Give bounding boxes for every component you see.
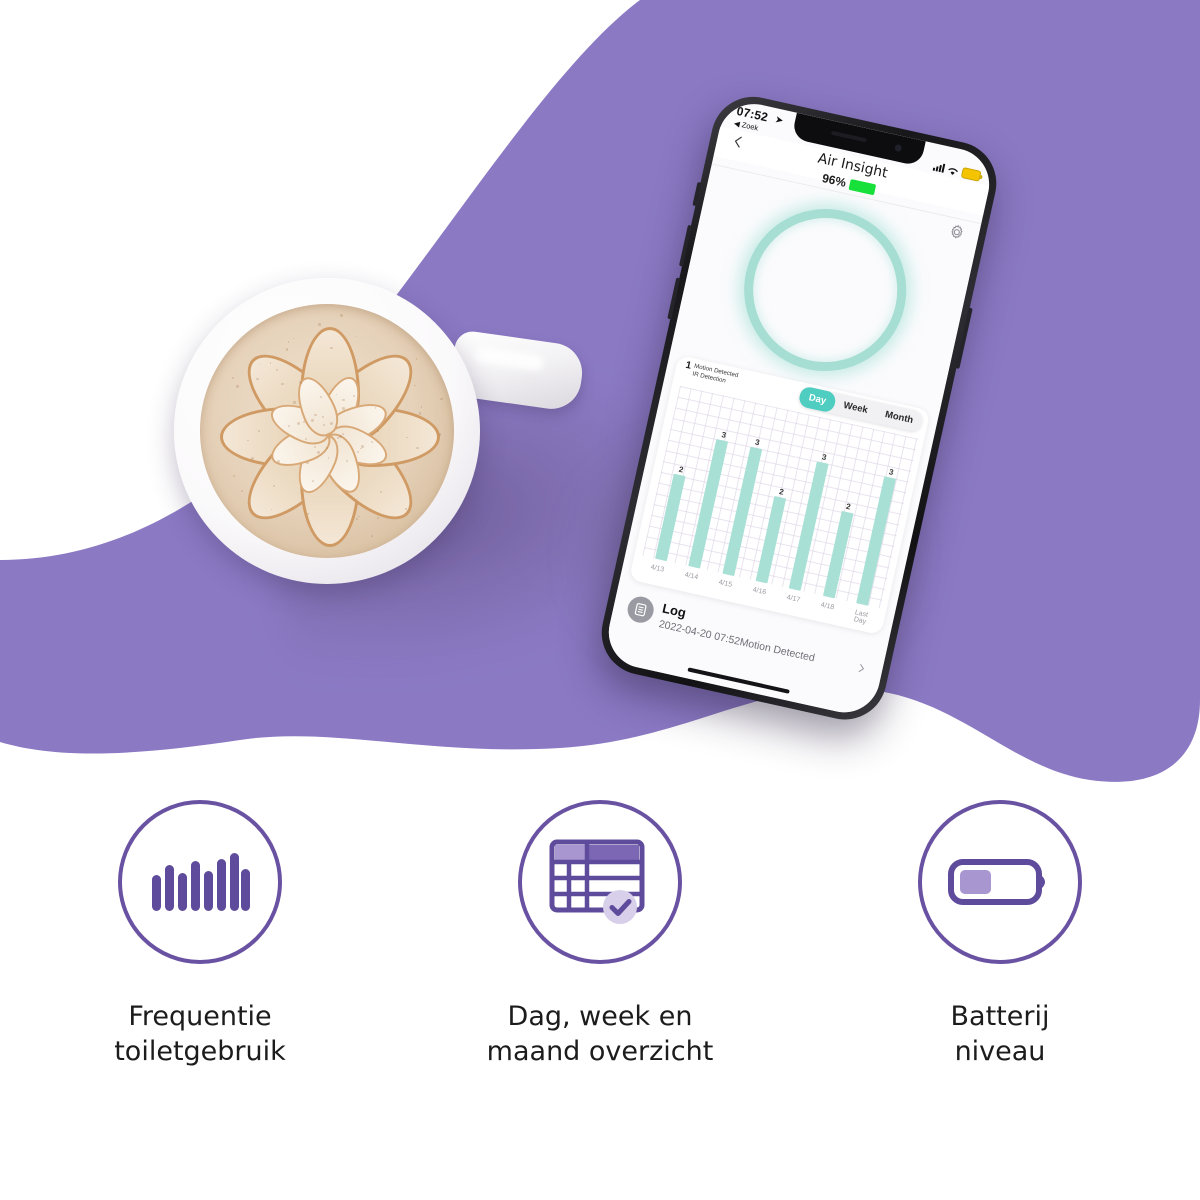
chart-x-label: 4/17: [778, 593, 806, 612]
wifi-icon: [946, 164, 960, 176]
foam-speck: [232, 377, 234, 379]
home-indicator[interactable]: [687, 667, 789, 693]
location-arrow-icon: ➤: [774, 114, 785, 127]
feature-label-line1: Batterij: [951, 1000, 1050, 1035]
foam-speck: [361, 445, 364, 448]
earpiece-speaker: [831, 131, 867, 143]
frequency-bars-icon: [150, 851, 250, 913]
foam-speck: [353, 395, 355, 397]
foam-speck: [439, 433, 442, 436]
phone-screen: 07:52 ➤ ◀ Zoek: [602, 97, 996, 719]
chart-bar: [823, 511, 854, 599]
chart-x-label: 4/13: [642, 563, 670, 582]
feature-icon-circle: [918, 800, 1082, 964]
foam-speck: [330, 347, 332, 349]
range-segment-month[interactable]: Month: [874, 402, 924, 433]
foam-speck: [356, 518, 358, 520]
foam-speck: [358, 516, 360, 518]
feature-icon-circle: [118, 800, 282, 964]
chart-bar: [655, 474, 686, 562]
chart-bar-value: 2: [845, 502, 851, 512]
phone-mockup: 07:52 ➤ ◀ Zoek: [583, 89, 1053, 787]
foam-speck: [312, 480, 314, 482]
feature-item-frequency: Frequentie toiletgebruik: [0, 800, 400, 1160]
foam-speck: [380, 491, 382, 493]
foam-speck: [323, 424, 325, 426]
battery-percent-label: 96%: [821, 171, 847, 190]
foam-speck: [247, 440, 248, 441]
foam-speck: [293, 338, 294, 339]
foam-speck: [288, 341, 290, 343]
log-title: Log: [661, 601, 688, 621]
foam-speck: [307, 513, 308, 514]
status-ring-indicator: [729, 193, 922, 386]
foam-speck: [236, 385, 238, 387]
hero-section: 07:52 ➤ ◀ Zoek: [0, 0, 1200, 790]
gear-icon[interactable]: [947, 223, 966, 242]
coffee-cup-photo: [152, 258, 622, 608]
foam-speck: [311, 419, 313, 421]
foam-speck: [414, 385, 415, 386]
foam-speck: [314, 446, 316, 448]
back-triangle-icon: ◀: [733, 119, 741, 129]
foam-speck: [233, 475, 235, 477]
foam-speck: [340, 314, 343, 317]
chart-x-label: 4/15: [710, 578, 738, 597]
foam-speck: [421, 406, 422, 407]
feature-label: Batterij niveau: [951, 1000, 1050, 1069]
foam-speck: [273, 485, 275, 487]
battery-level-icon: [947, 854, 1053, 910]
latte-art: [200, 304, 454, 558]
feature-list: Frequentie toiletgebruik Dag,: [0, 800, 1200, 1160]
feature-label-line1: Frequentie: [114, 1000, 286, 1035]
foam-speck: [286, 348, 289, 351]
foam-speck: [293, 401, 296, 404]
foam-speck: [322, 416, 324, 418]
foam-speck: [337, 437, 339, 439]
foam-speck: [276, 369, 278, 371]
battery-full-icon: [849, 178, 877, 194]
foam-speck: [371, 441, 373, 443]
foam-speck: [299, 381, 301, 383]
feature-label: Dag, week en maand overzicht: [487, 1000, 714, 1069]
foam-speck: [416, 447, 418, 449]
chart-x-label: 4/14: [676, 570, 704, 589]
foam-speck: [241, 490, 243, 492]
foam-speck: [440, 398, 443, 401]
foam-speck: [318, 323, 321, 326]
foam-speck: [256, 378, 258, 380]
feature-item-overview: Dag, week en maand overzicht: [400, 800, 800, 1160]
range-segment-week[interactable]: Week: [832, 393, 878, 423]
feature-label-line2: niveau: [951, 1035, 1050, 1070]
foam-speck: [405, 508, 406, 509]
feature-label-line2: toiletgebruik: [114, 1035, 286, 1070]
foam-speck: [371, 535, 373, 537]
foam-speck: [356, 336, 357, 337]
feature-item-battery: Batterij niveau: [800, 800, 1200, 1160]
event-labels: Motion Detected IR Detection: [692, 363, 739, 388]
foam-speck: [406, 437, 407, 438]
chart-bar-value: 3: [754, 437, 760, 447]
foam-speck: [339, 435, 342, 438]
foam-speck: [306, 462, 309, 465]
chart-bar-value: 2: [678, 465, 684, 475]
front-camera: [894, 144, 902, 152]
feature-label: Frequentie toiletgebruik: [114, 1000, 286, 1069]
foam-speck: [251, 457, 254, 460]
cup-body: [174, 278, 480, 584]
foam-speck: [277, 460, 280, 463]
battery-low-power-icon: [961, 167, 982, 182]
chart-bar-value: 2: [778, 487, 784, 497]
foam-speck: [258, 430, 260, 432]
cellular-signal-icon: [933, 162, 946, 173]
chart-bar: [756, 496, 787, 584]
chevron-right-icon[interactable]: [856, 663, 867, 674]
chart-bar-value: 3: [821, 452, 827, 462]
feature-label-line1: Dag, week en: [487, 1000, 714, 1035]
chart-bar-value: 3: [888, 467, 894, 477]
range-segment-day[interactable]: Day: [798, 385, 837, 413]
feature-label-line2: maand overzicht: [487, 1035, 714, 1070]
feature-icon-circle: [518, 800, 682, 964]
foam-speck: [281, 383, 283, 385]
foam-speck: [330, 422, 333, 425]
mute-switch[interactable]: [692, 182, 701, 206]
table-check-icon: [548, 836, 652, 928]
foam-speck: [377, 517, 379, 519]
chart-x-label: 4/18: [812, 600, 840, 619]
chart-bar-value: 3: [721, 430, 727, 440]
log-list-icon: [625, 594, 656, 625]
foam-speck: [342, 407, 345, 410]
foam-speck: [317, 451, 319, 453]
log-entry: 2022-04-20 07:52Motion Detected: [658, 618, 816, 664]
phone-frame: 07:52 ➤ ◀ Zoek: [594, 89, 1005, 728]
foam-speck: [326, 447, 328, 449]
foam-speck: [419, 412, 421, 414]
chart-x-label: Last Day: [846, 608, 874, 627]
foam-speck: [377, 430, 379, 432]
foam-speck: [416, 358, 418, 360]
chart-x-label: 4/16: [744, 585, 772, 604]
event-count: 1: [684, 361, 692, 372]
